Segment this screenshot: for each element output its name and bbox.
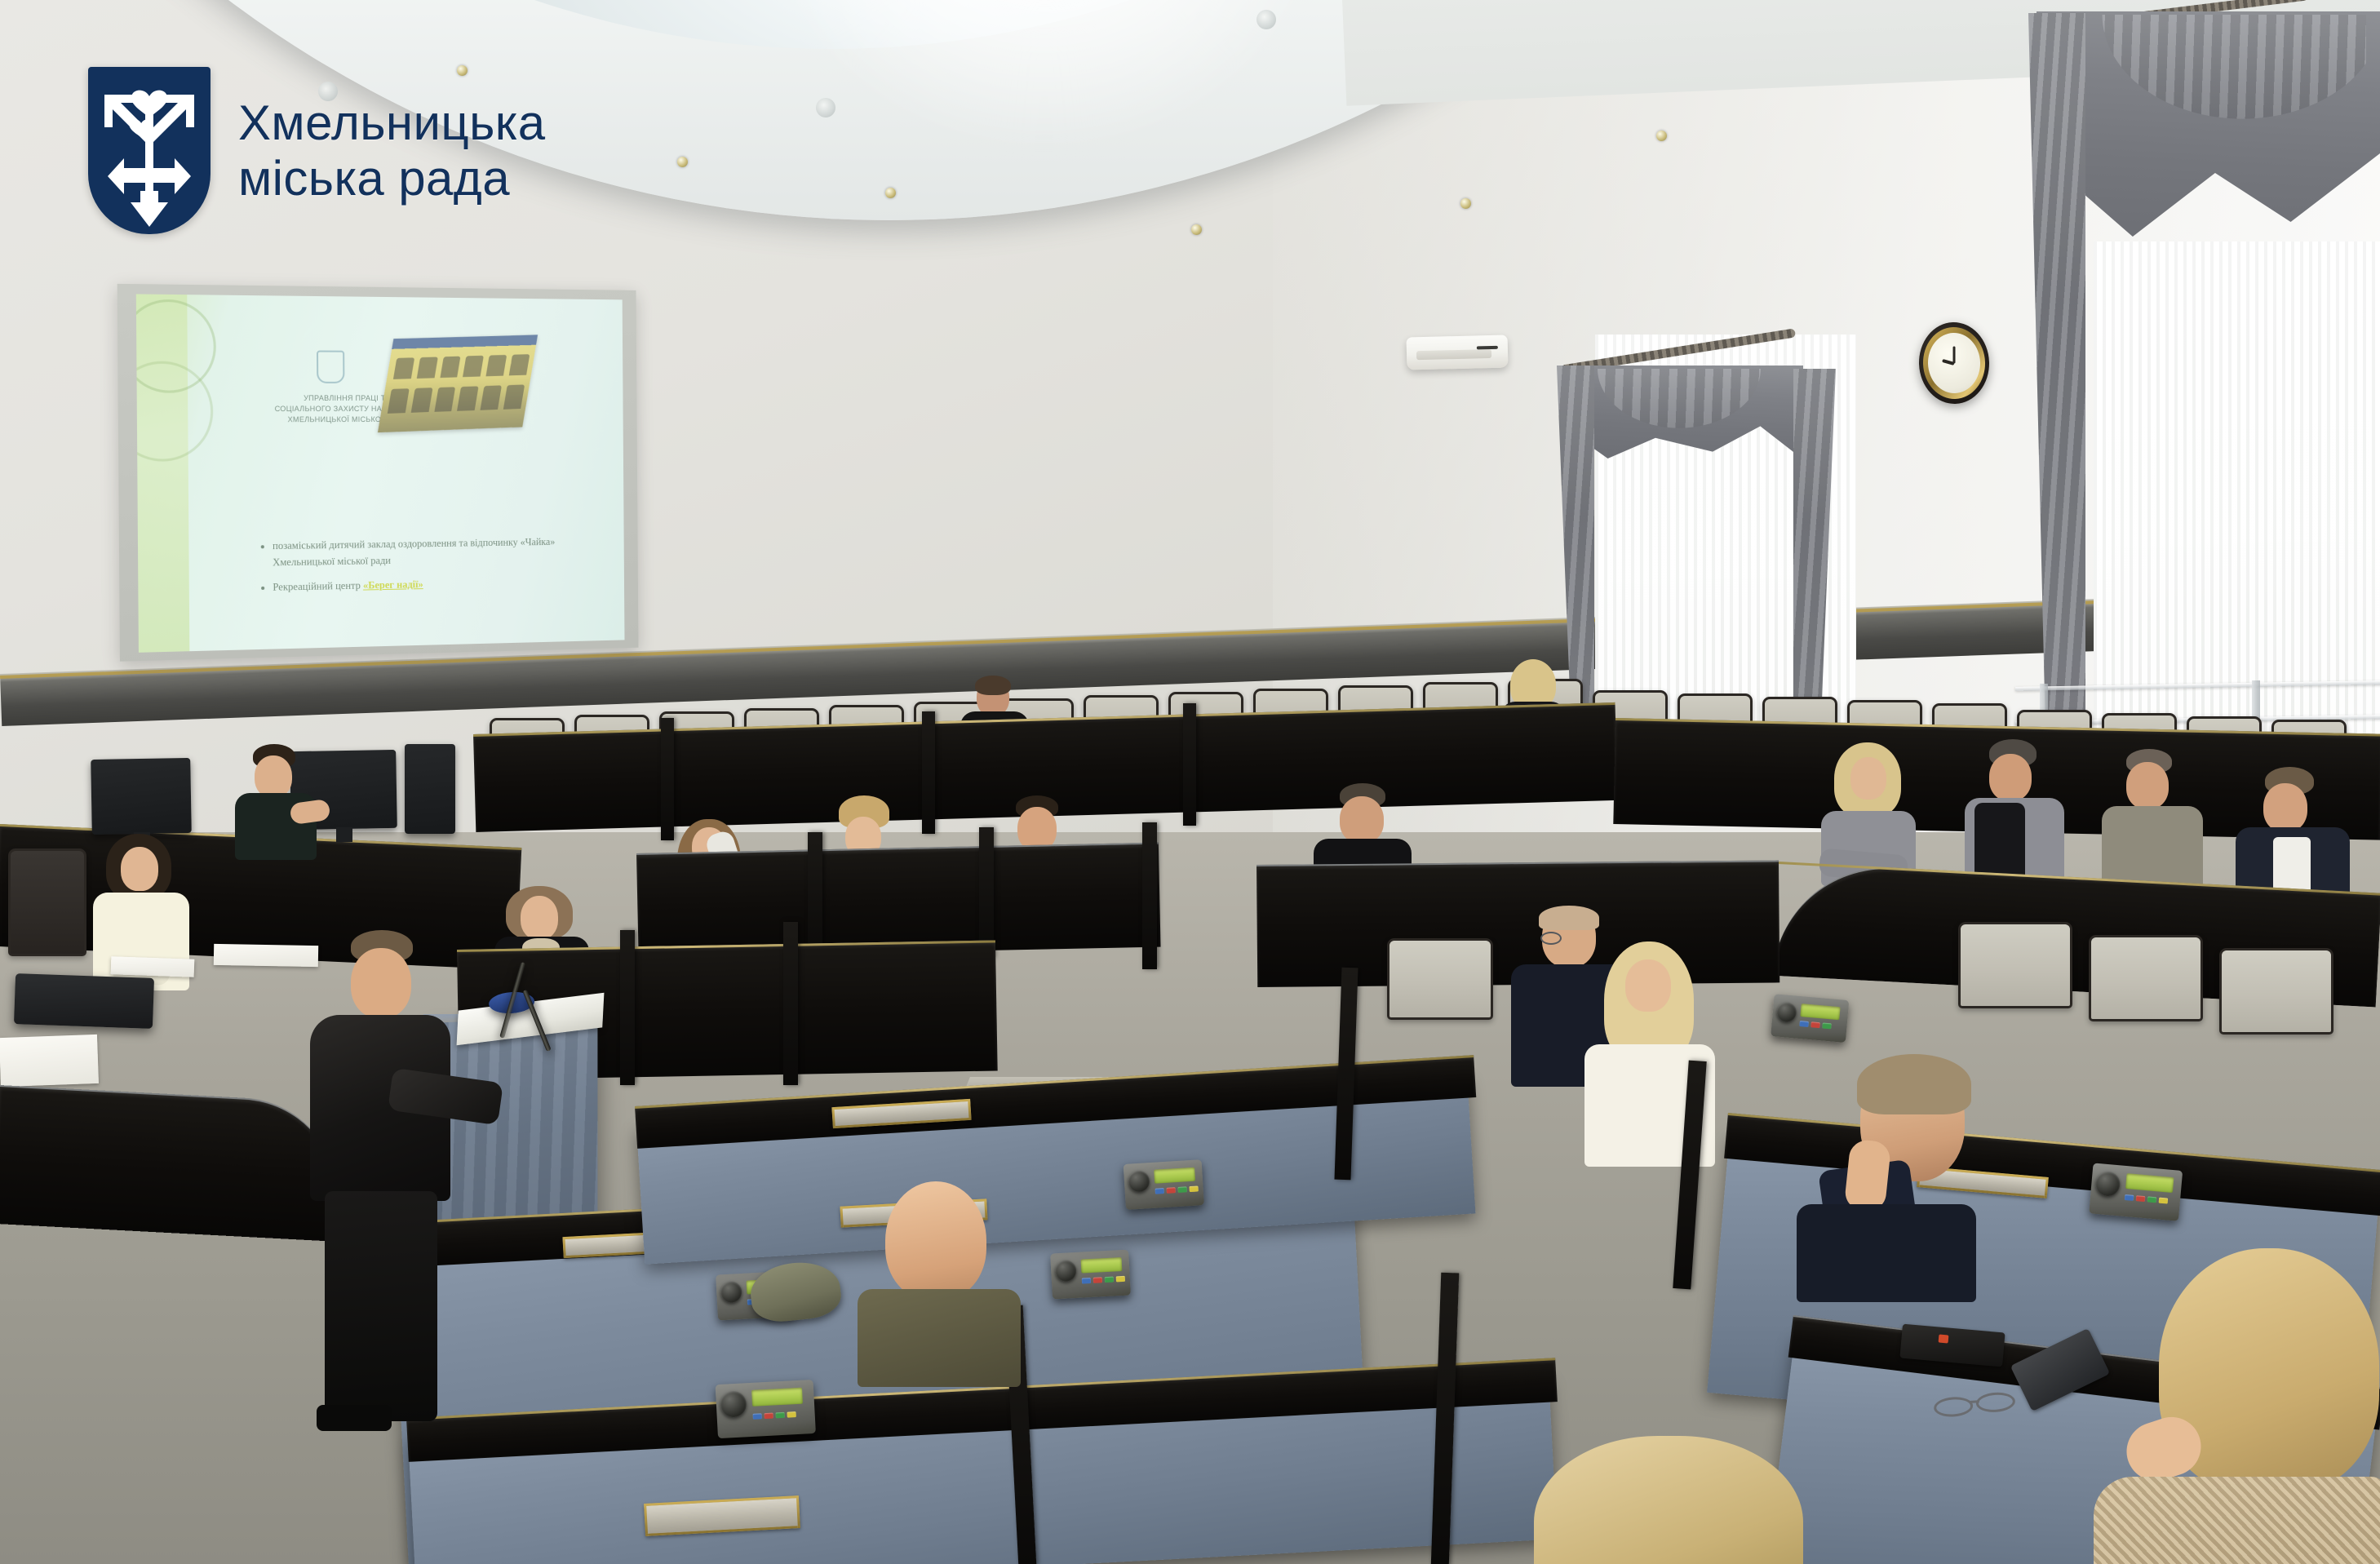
head-bald bbox=[885, 1181, 986, 1300]
ceiling-screw bbox=[1191, 224, 1202, 235]
slide-bullet-2-text: Рекреаційний центр bbox=[273, 579, 361, 592]
window-right bbox=[2094, 241, 2380, 747]
head bbox=[255, 755, 292, 798]
ceiling-recessed-light bbox=[1256, 10, 1276, 29]
volume-knob[interactable] bbox=[1128, 1170, 1150, 1193]
chair bbox=[8, 848, 86, 956]
unit-button[interactable] bbox=[1116, 1276, 1125, 1283]
desk-divider bbox=[620, 930, 635, 1085]
head bbox=[121, 847, 158, 891]
desk-divider bbox=[979, 827, 994, 958]
ceiling-recessed-light bbox=[816, 98, 835, 117]
hair bbox=[1857, 1054, 1971, 1114]
ac-vent bbox=[1416, 349, 1491, 360]
case-clasp bbox=[1939, 1334, 1949, 1343]
logo-text: Хмельницька міська рада bbox=[238, 95, 546, 205]
slide-bullet-list: позаміський дитячий заклад оздоровлення … bbox=[239, 533, 578, 604]
ceiling-screw bbox=[677, 157, 688, 167]
unit-button[interactable] bbox=[2125, 1194, 2134, 1201]
volume-knob[interactable] bbox=[2094, 1171, 2121, 1198]
head bbox=[1850, 757, 1886, 800]
head bbox=[2126, 762, 2169, 809]
head bbox=[1989, 754, 2032, 801]
conference-unit bbox=[1050, 1250, 1131, 1300]
logo-line-1: Хмельницька bbox=[238, 95, 546, 150]
chair bbox=[1387, 938, 1493, 1020]
projection-screen: УПРАВЛІННЯ ПРАЦІ ТА СОЦІАЛЬНОГО ЗАХИСТУ … bbox=[117, 284, 639, 662]
sheer-curtain bbox=[2094, 241, 2380, 747]
slide-highlight: «Берег надії» bbox=[363, 578, 423, 591]
chair bbox=[2089, 935, 2203, 1021]
head bbox=[1625, 959, 1671, 1012]
chair bbox=[2219, 948, 2333, 1035]
clock-minute-hand bbox=[1953, 346, 1956, 363]
unit-button[interactable] bbox=[765, 1413, 773, 1420]
head bbox=[521, 896, 558, 940]
documents bbox=[111, 956, 195, 977]
hair-thin bbox=[1539, 906, 1599, 930]
volume-knob[interactable] bbox=[1776, 1002, 1797, 1023]
torso bbox=[1797, 1204, 1976, 1302]
ceiling-screw bbox=[1460, 198, 1471, 209]
unit-button[interactable] bbox=[1810, 1021, 1820, 1028]
unit-button[interactable] bbox=[2136, 1195, 2146, 1202]
unit-display bbox=[2125, 1173, 2174, 1193]
logo-line-2: міська рада bbox=[238, 151, 546, 206]
slide-bullet-2: Рекреаційний центр «Берег надії» bbox=[273, 573, 578, 595]
desk-divider bbox=[661, 718, 674, 840]
brand-logo-overlay: Хмельницька міська рада bbox=[88, 67, 546, 234]
unit-button[interactable] bbox=[1082, 1278, 1091, 1284]
legs bbox=[325, 1191, 437, 1421]
slide-bullet-1: позаміський дитячий заклад оздоровлення … bbox=[273, 533, 578, 570]
unit-button[interactable] bbox=[776, 1412, 785, 1419]
ceiling-screw bbox=[1656, 131, 1667, 141]
chair bbox=[1958, 922, 2072, 1008]
volume-knob[interactable] bbox=[720, 1281, 742, 1303]
unit-button[interactable] bbox=[1105, 1277, 1114, 1283]
unit-display bbox=[1154, 1167, 1195, 1184]
volume-knob[interactable] bbox=[720, 1390, 747, 1418]
unit-button[interactable] bbox=[2147, 1196, 2157, 1203]
council-chamber-photo: УПРАВЛІННЯ ПРАЦІ ТА СОЦІАЛЬНОГО ЗАХИСТУ … bbox=[0, 0, 2380, 1564]
unit-button[interactable] bbox=[2159, 1198, 2169, 1204]
desk-row-mid-left bbox=[636, 843, 1161, 958]
shoe bbox=[317, 1405, 392, 1431]
desk-divider bbox=[783, 922, 798, 1085]
conference-unit bbox=[1124, 1159, 1204, 1210]
unit-display bbox=[1800, 1004, 1840, 1020]
unit-button[interactable] bbox=[753, 1413, 762, 1420]
khmelnytskyi-coat-of-arms-icon bbox=[88, 67, 211, 234]
air-conditioner bbox=[1407, 335, 1509, 370]
ceiling-screw bbox=[885, 188, 896, 198]
unit-button[interactable] bbox=[1799, 1021, 1809, 1027]
presentation-slide: УПРАВЛІННЯ ПРАЦІ ТА СОЦІАЛЬНОГО ЗАХИСТУ … bbox=[136, 294, 625, 652]
hair bbox=[975, 676, 1011, 695]
paper-stack bbox=[0, 1035, 99, 1087]
desk-divider bbox=[1142, 822, 1157, 969]
glasses-icon bbox=[1540, 932, 1562, 945]
unit-button[interactable] bbox=[1189, 1185, 1198, 1192]
desk-divider bbox=[1183, 703, 1196, 826]
desk-projector bbox=[14, 973, 154, 1029]
documents bbox=[214, 944, 318, 967]
unit-display bbox=[1081, 1257, 1123, 1274]
torso-olive bbox=[858, 1289, 1021, 1387]
volume-knob[interactable] bbox=[1055, 1260, 1077, 1282]
desk-divider bbox=[922, 711, 935, 834]
unit-button[interactable] bbox=[1093, 1277, 1102, 1283]
slide-department-emblem bbox=[317, 351, 344, 383]
unit-button[interactable] bbox=[1178, 1186, 1187, 1193]
head bbox=[1340, 796, 1384, 844]
head bbox=[351, 948, 411, 1018]
torso-houndstooth-blazer bbox=[2094, 1477, 2380, 1564]
conference-unit bbox=[716, 1380, 816, 1438]
slide-building-photo bbox=[378, 335, 538, 432]
unit-button[interactable] bbox=[1167, 1187, 1176, 1194]
unit-button[interactable] bbox=[787, 1411, 796, 1418]
monitor bbox=[91, 758, 192, 835]
unit-button[interactable] bbox=[1822, 1022, 1832, 1029]
unit-button[interactable] bbox=[1155, 1188, 1164, 1194]
monitor-stand bbox=[336, 827, 352, 842]
ac-indicator bbox=[1477, 346, 1498, 350]
conference-unit bbox=[1771, 994, 1849, 1043]
conference-unit bbox=[2089, 1163, 2183, 1221]
unit-display bbox=[751, 1388, 803, 1407]
pc-tower bbox=[405, 744, 455, 834]
head bbox=[2263, 783, 2307, 832]
